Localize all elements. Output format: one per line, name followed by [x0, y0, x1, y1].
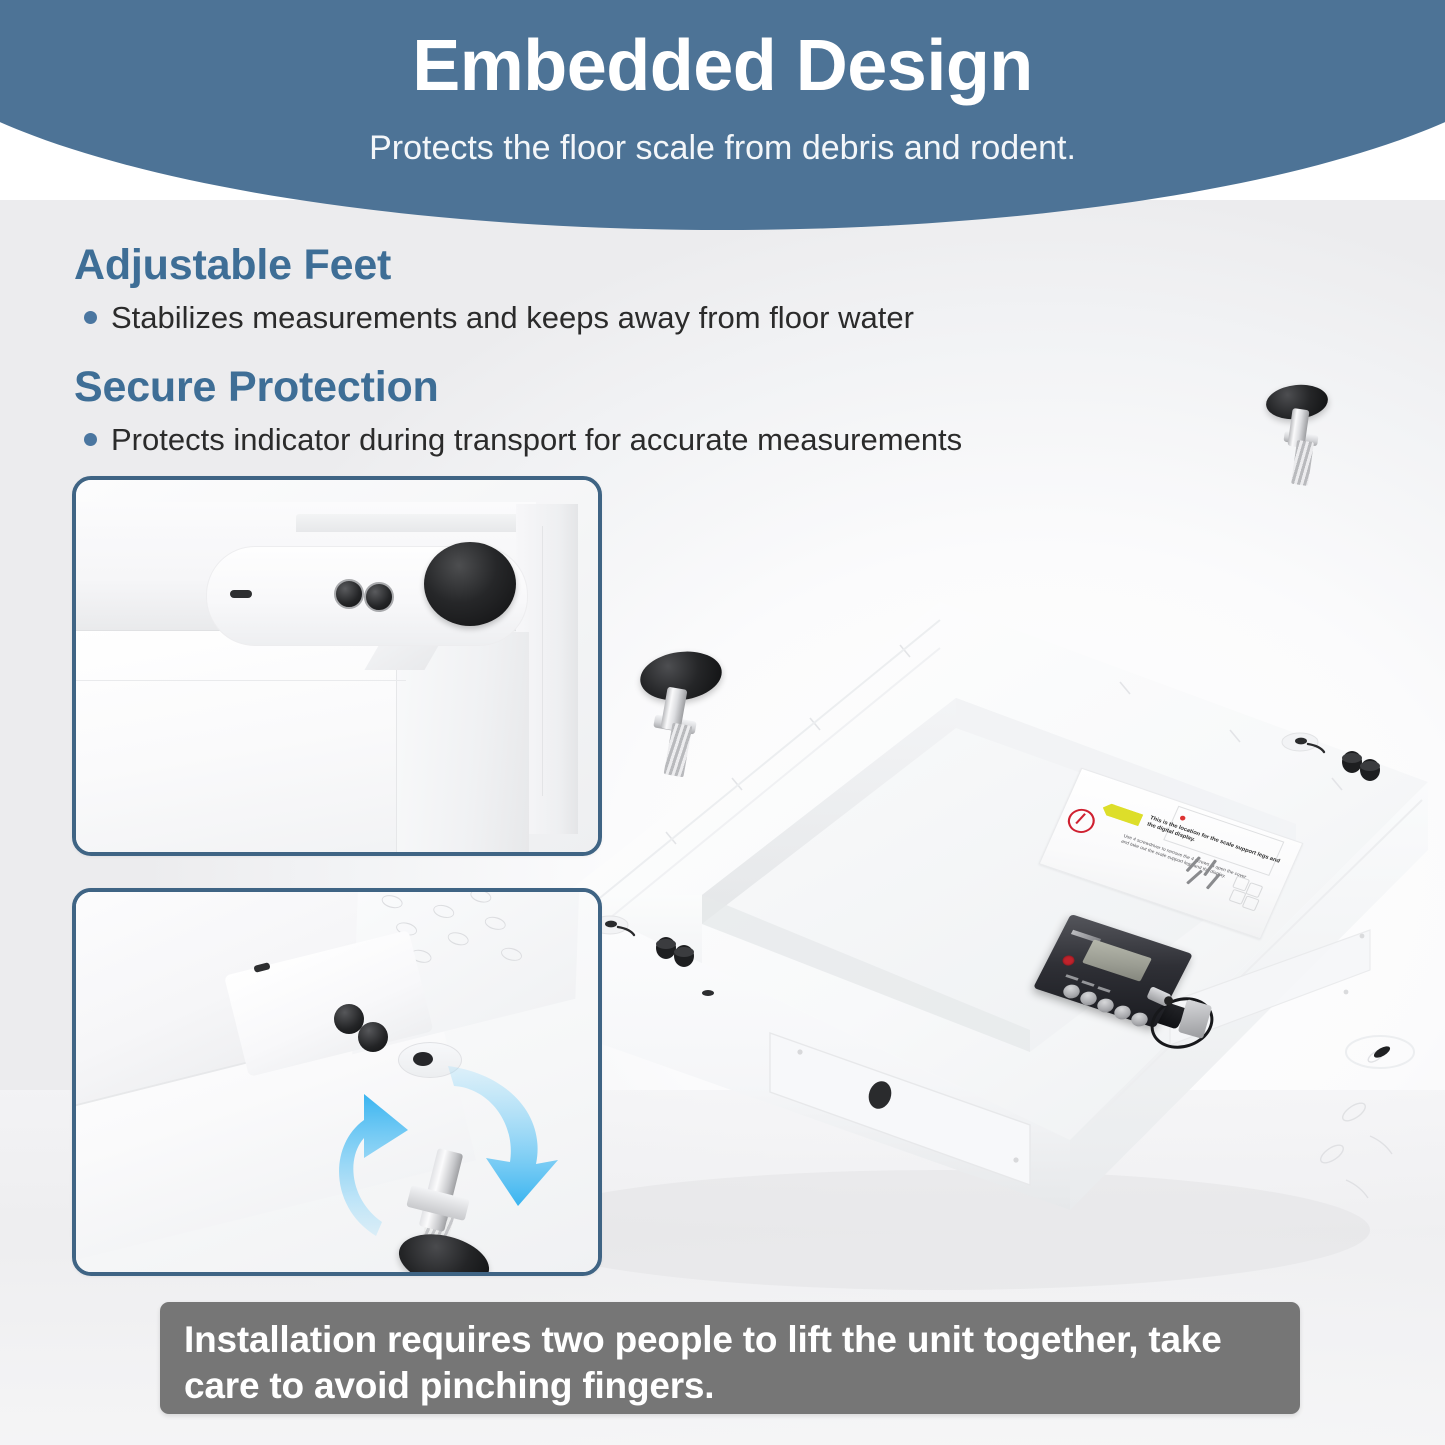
feature-bullet-secure-protection: Protects indicator during transport for … — [111, 418, 962, 462]
leveling-foot-upper — [1258, 385, 1378, 495]
header-banner: Embedded Design Protects the floor scale… — [0, 0, 1445, 230]
page-subtitle: Protects the floor scale from debris and… — [0, 127, 1445, 169]
bullet-dot-icon — [84, 311, 97, 324]
cable-gland-icon — [334, 579, 364, 609]
leveling-foot-lower — [630, 650, 760, 780]
pocket-slot-icon — [230, 590, 252, 598]
digital-indicator — [1052, 928, 1200, 1040]
warning-icon — [1064, 805, 1099, 836]
rotate-arrow-up-icon — [324, 1088, 434, 1238]
feature-bullet-row: Stabilizes measurements and keeps away f… — [84, 296, 1084, 340]
feature-bullet-adjustable-feet: Stabilizes measurements and keeps away f… — [111, 296, 914, 340]
yellow-arrow-icon — [1100, 802, 1143, 827]
feature-heading-adjustable-feet: Adjustable Feet — [74, 238, 1084, 292]
page-title: Embedded Design — [0, 24, 1445, 108]
inset-panel-adjustable-feet — [72, 888, 602, 1276]
cable-gland-icon — [364, 582, 394, 612]
safety-caption-bar: Installation requires two people to lift… — [160, 1302, 1300, 1414]
feature-heading-secure-protection: Secure Protection — [74, 360, 1084, 414]
rotate-arrow-down-icon — [442, 1060, 562, 1210]
feature-bullet-row: Protects indicator during transport for … — [84, 418, 1084, 462]
cable-gland-icon — [358, 1022, 388, 1052]
inset-panel-secure-protection — [72, 476, 602, 856]
foot-thread — [664, 723, 693, 778]
foot-thread — [1291, 440, 1314, 486]
protective-knob — [424, 542, 516, 626]
infographic-canvas: This is the location for the scale suppo… — [0, 0, 1445, 1445]
safety-caption-text: Installation requires two people to lift… — [184, 1317, 1279, 1409]
feature-list: Adjustable Feet Stabilizes measurements … — [74, 238, 1084, 464]
bullet-dot-icon — [84, 433, 97, 446]
